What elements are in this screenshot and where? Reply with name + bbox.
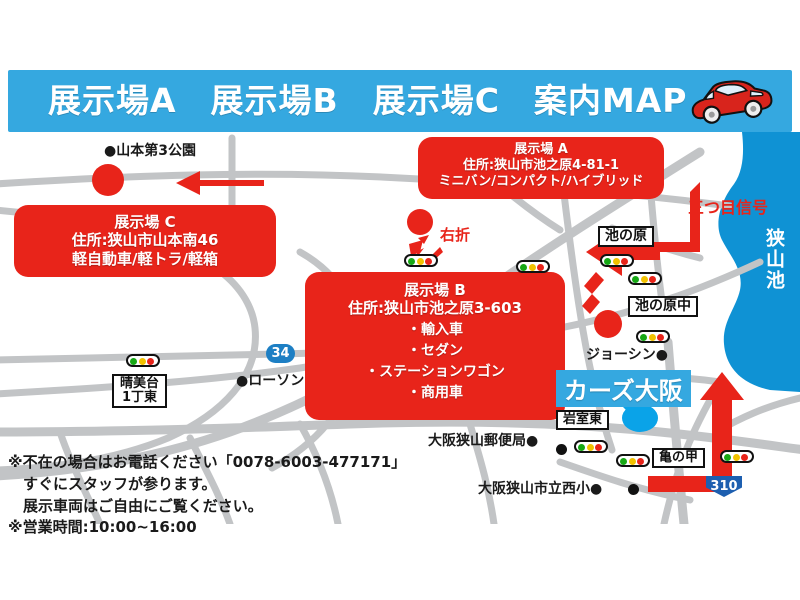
third-signal-text: 三つ目信号 [688,198,768,217]
route-shield-34: 34 [266,344,295,363]
signal-icon-harumidai [126,354,160,367]
signal-icon-ikenohara-naka [628,272,662,285]
poi-lawson: ●ローソン [236,370,304,390]
plate-ikenohara: 池の原 [598,226,654,247]
poi-dot-left-bottom [556,444,567,455]
turn-right-label: 右折 [440,224,470,245]
page-title: 展示場A 展示場B 展示場C 案内MAP [48,76,668,126]
callout-b-item-2: ・セダン [305,343,565,360]
callout-b-item-1: ・輸入車 [305,322,565,339]
signal-icon-joshin [636,330,670,343]
callout-b-name: 展示場 B [305,281,565,299]
signal-icon-ikenohara [600,254,634,267]
callout-b-address: 住所:狭山市池之原3-603 [305,299,565,317]
note-line-4: ※営業時間:10:00~16:00 [8,517,438,539]
showroom-a-marker [407,209,433,235]
signal-icon-kamenoko [720,450,754,463]
callout-a-cars: ミニバン/コンパクト/ハイブリッド [418,174,664,190]
plate-ikenohara-naka: 池の原中 [628,296,698,317]
plate-harumidai: 晴美台 1丁東 [112,374,167,408]
poi-post-office: 大阪狭山郵便局● [428,430,538,450]
signal-icon-iwamuro [574,440,608,453]
signal-icon-upper-left [516,260,550,273]
poi-joshin: ジョーシン● [586,344,668,364]
callout-b-item-3: ・ステーションワゴン [305,364,565,381]
callout-b-item-4: ・商用車 [305,385,565,402]
dealer-location-dot [622,404,658,432]
plate-iwamuro-higashi: 岩室東 [556,410,609,430]
turn-right-text: 右折 [440,226,470,244]
poi-nishi-elementary: 大阪狭山市立西小● [478,478,602,498]
callout-a-address: 住所:狭山市池之原4-81-1 [418,158,664,174]
footer-notes: ※不在の場合はお電話ください「0078-6003-477171」 すぐにスタッフ… [8,452,438,539]
lake-label-sayamaike: 狭山池 [764,228,783,291]
callout-c-address: 住所:狭山市山本南46 [14,231,276,249]
dealer-tag-cars-osaka[interactable]: カーズ大阪 [556,370,691,407]
red-car-icon [684,76,776,126]
map-page: 展示場A 展示場B 展示場C 案内MAP [0,0,800,600]
plate-harumidai-line2: 1丁東 [120,391,159,405]
callout-showroom-a: 展示場 A 住所:狭山市池之原4-81-1 ミニバン/コンパクト/ハイブリッド [418,137,664,199]
callout-showroom-c: 展示場 C 住所:狭山市山本南46 軽自動車/軽トラ/軽箱 [14,205,276,277]
note-line-3: 展示車両はご自由にご覧ください。 [8,496,438,518]
showroom-b-marker [594,310,622,338]
callout-showroom-b: 展示場 B 住所:狭山市池之原3-603 ・輸入車 ・セダン ・ステーションワゴ… [305,272,565,420]
third-signal-label: 三つ目信号 [688,194,768,218]
note-line-1: ※不在の場合はお電話ください「0078-6003-477171」 [8,452,438,474]
callout-a-name: 展示場 A [418,142,664,158]
poi-dot-nishi-elementary [628,484,639,495]
signal-icon-mid-bottom [616,454,650,467]
callout-c-name: 展示場 C [14,213,276,231]
callout-c-cars: 軽自動車/軽トラ/軽箱 [14,250,276,268]
note-line-2: すぐにスタッフが参ります。 [8,474,438,496]
showroom-c-marker [92,164,124,196]
plate-kamenoko: 亀の甲 [652,448,705,468]
plate-harumidai-line1: 晴美台 [120,377,159,391]
signal-icon-right-turn [404,254,438,267]
poi-yamamoto-park: ●山本第3公園 [104,140,196,160]
